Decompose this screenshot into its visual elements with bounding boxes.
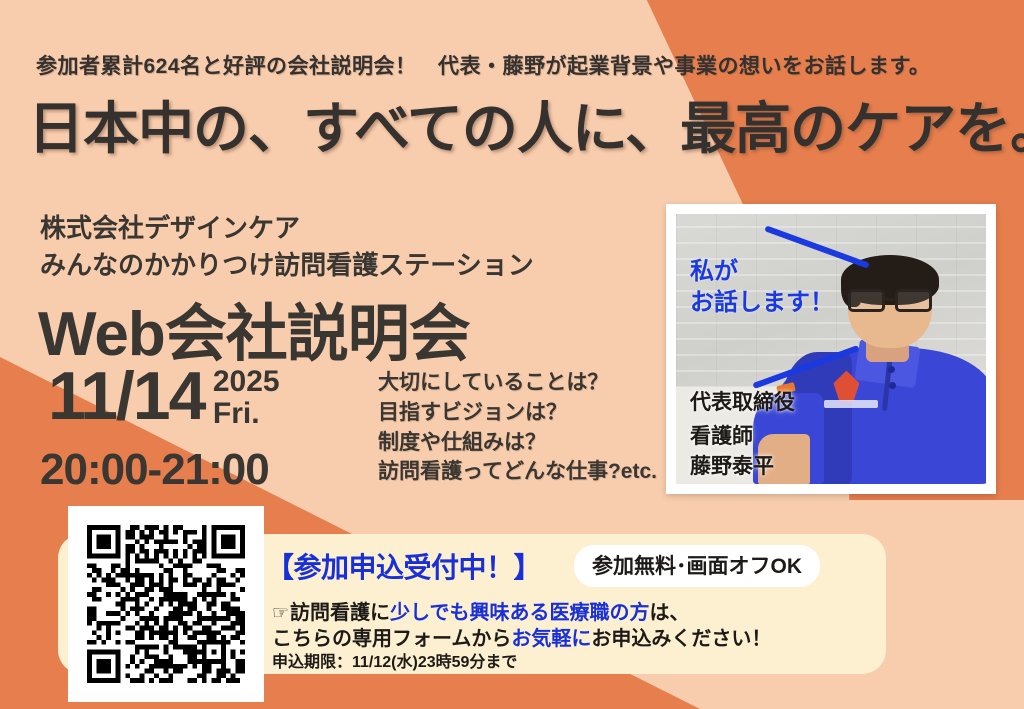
- shirt-logo-text: [824, 400, 878, 408]
- event-date-side: 2025 Fri.: [213, 366, 280, 429]
- speaker-qualification: 看護師: [690, 420, 753, 450]
- application-line-1-b: は、: [649, 602, 689, 624]
- poster-canvas: 参加者累計624名と好評の会社説明会！ 代表・藤野が起業背景や事業の想いをお話し…: [0, 0, 1024, 709]
- application-deadline: 申込期限：11/12(水)23時59分まで: [272, 648, 517, 672]
- speaker-photo: 私が お話します！ 代表取締役 看護師 藤野泰平: [676, 214, 986, 484]
- list-item: 訪問看護ってどんな仕事?etc.: [378, 457, 657, 487]
- glasses-icon: [848, 289, 933, 312]
- list-item: 制度や仕組みは？: [378, 428, 657, 458]
- event-time: 20:00-21:00: [40, 445, 269, 495]
- event-date: 11/14: [48, 362, 204, 430]
- topic-list: 大切にしていることは？ 目指すビジョンは？ 制度や仕組みは？ 訪問看護ってどんな…: [378, 368, 657, 487]
- glasses-bridge: [885, 298, 895, 301]
- speaker-name: 藤野泰平: [690, 450, 774, 480]
- application-heading: 【参加申込受付中！】: [266, 546, 541, 586]
- speaker-photo-card: 私が お話します！ 代表取締役 看護師 藤野泰平: [666, 204, 996, 494]
- application-line-2: こちらの専用フォームからお気軽にお申込みください！: [272, 622, 771, 651]
- qr-code-icon[interactable]: [87, 525, 245, 683]
- glasses-lens-left: [848, 289, 885, 312]
- shirt-button: [888, 366, 895, 373]
- company-service-name: みんなのかかりつけ訪問看護ステーション: [40, 245, 534, 282]
- application-line-1: ☞訪問看護に少しでも興味ある医療職の方は、: [272, 596, 689, 625]
- application-line-2-b: お申込みください！: [591, 628, 771, 650]
- speaker-role: 代表取締役: [690, 386, 795, 416]
- event-year: 2025: [213, 366, 280, 398]
- company-name: 株式会社デザインケア: [40, 208, 300, 245]
- application-line-2-highlight: お気軽に: [511, 628, 591, 650]
- handwriting-line-2: お話します！: [690, 287, 834, 318]
- eyebrow-text: 参加者累計624名と好評の会社説明会！ 代表・藤野が起業背景や事業の想いをお話し…: [36, 50, 930, 80]
- list-item: 目指すビジョンは？: [378, 398, 657, 428]
- event-dayofweek: Fri.: [213, 398, 280, 430]
- handwriting-note: 私が お話します！: [690, 256, 834, 318]
- application-line-1-a: 訪問看護に: [290, 602, 390, 624]
- handwriting-line-1: 私が: [690, 256, 834, 287]
- application-line-1-highlight: 少しでも興味ある医療職の方: [390, 602, 649, 624]
- glasses-lens-right: [895, 289, 932, 312]
- shirt-button: [889, 382, 896, 389]
- status-badge: 参加無料･画面オフOK: [574, 545, 820, 587]
- qr-code-card[interactable]: [68, 506, 264, 702]
- page-title: 日本中の、すべての人に、最高のケアを。: [28, 84, 1024, 165]
- event-date-block: 11/14 2025 Fri.: [48, 362, 280, 430]
- application-line-2-a: こちらの専用フォームから: [272, 628, 511, 650]
- pointing-hand-icon: ☞: [272, 603, 289, 624]
- list-item: 大切にしていることは？: [378, 368, 657, 398]
